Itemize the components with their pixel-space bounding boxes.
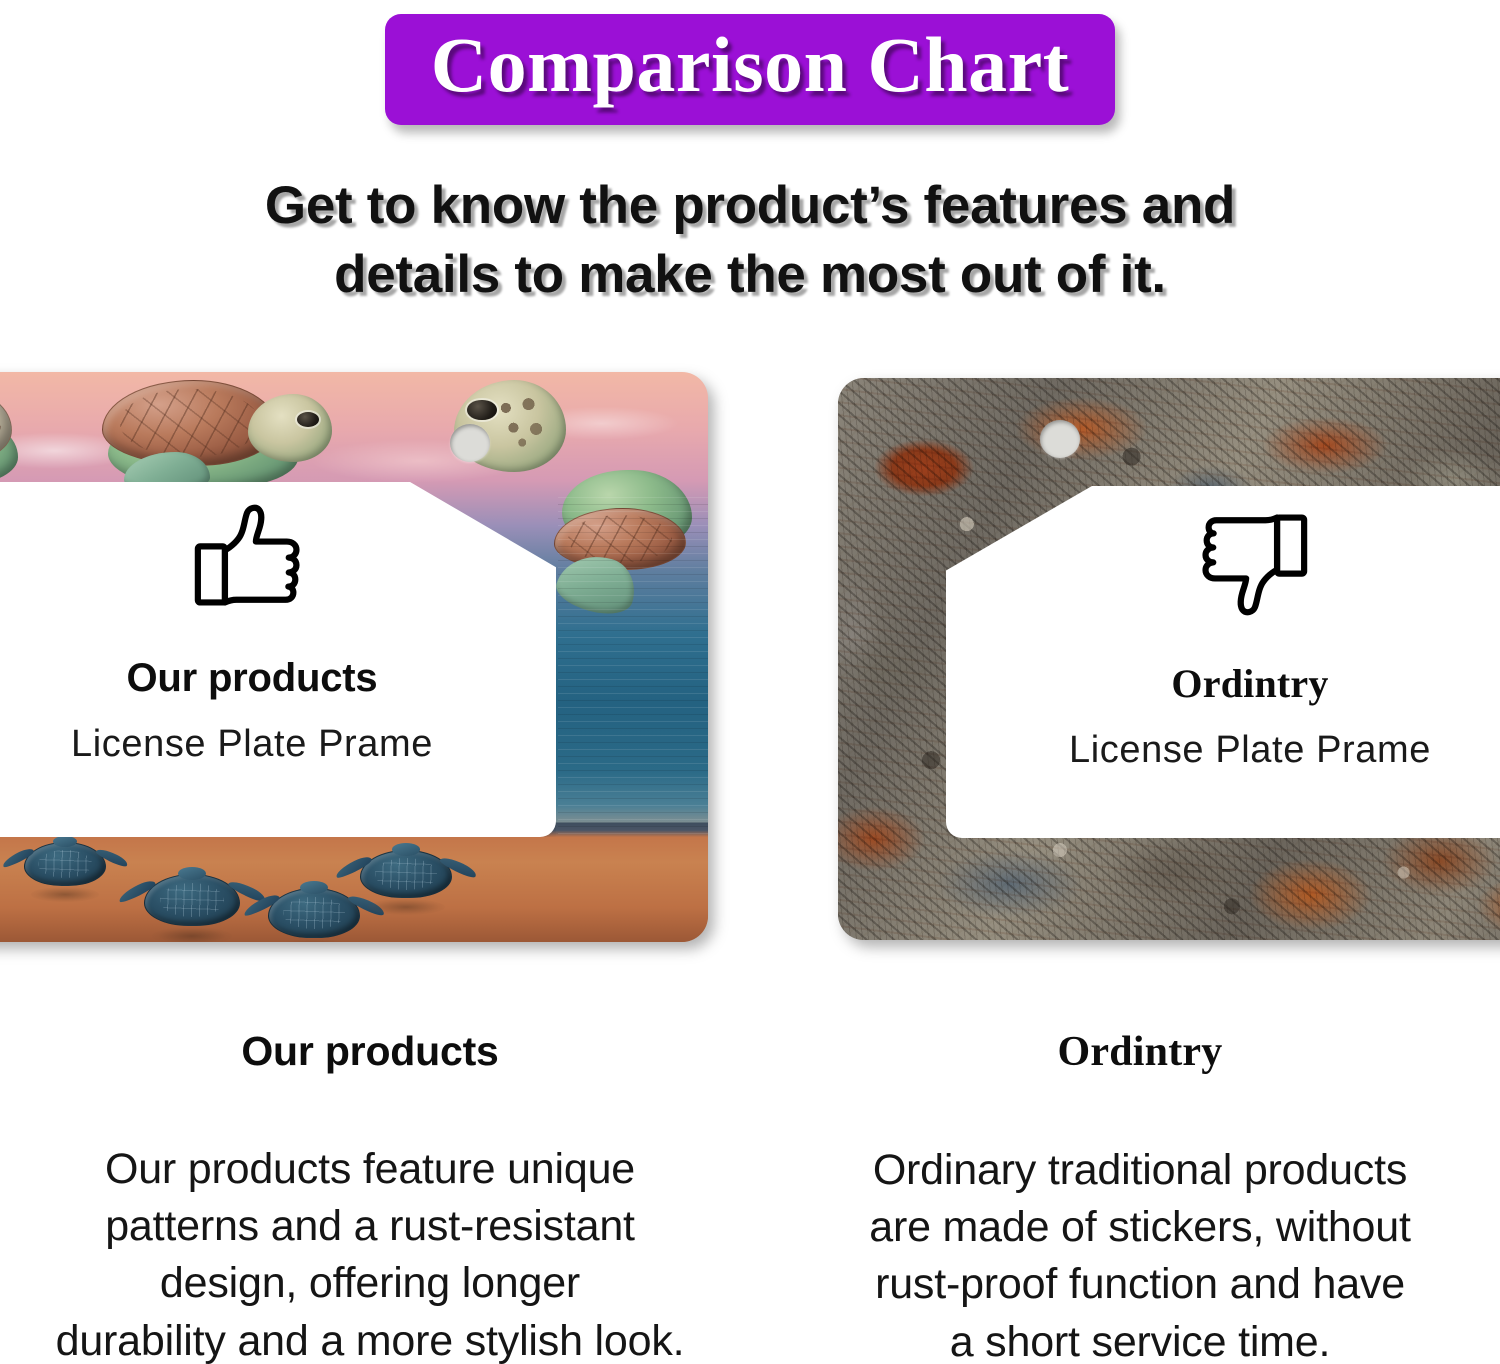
turtle-eye [297,412,319,427]
turtle-eye [467,400,496,420]
description-line: Our products feature unique [20,1141,720,1198]
ordinary-product-card-subtitle: License Plate Prame [946,729,1500,772]
our-product-card-title: Our products [0,656,556,701]
baby-turtle-head [392,843,420,855]
ordinary-product-description-column: Ordintry Ordinary traditional products a… [790,1028,1490,1364]
turtle-flipper [552,546,642,621]
comparison-chart-page: Comparison Chart Get to know the product… [0,0,1500,1364]
description-line: are made of stickers, without [790,1199,1490,1256]
baby-turtle-graphic [360,850,452,898]
turtle-graphic [548,464,708,624]
our-product-description-column: Our products Our products feature unique… [20,1028,720,1364]
description-line: a short service time. [790,1314,1490,1364]
baby-turtle-shell [24,842,106,886]
our-product-frame: Our products License Plate Prame [0,372,708,942]
baby-turtle-shell [268,888,360,938]
ordinary-product-description: Ordinary traditional products are made o… [790,1142,1490,1364]
baby-turtle-graphic [144,874,240,926]
our-product-description: Our products feature unique patterns and… [20,1141,720,1364]
baby-turtle-graphic [24,842,106,886]
turtle-graphic [98,378,328,490]
plate-window: Our products License Plate Prame [0,482,556,837]
thumbs-up-icon [189,500,315,616]
turtle-body [562,470,692,552]
ordinary-product-frame: Ordintry License Plate Prame [838,378,1500,940]
sand-trail [275,939,352,942]
baby-turtle-head [300,881,328,894]
mounting-hole [450,424,490,462]
plate-window: Ordintry License Plate Prame [946,486,1500,838]
description-line: rust-proof function and have [790,1256,1490,1313]
ordinary-product-card: Ordintry License Plate Prame [946,504,1500,772]
description-line: patterns and a rust-resistant [20,1198,720,1255]
turtle-head-spots [492,393,555,456]
baby-turtle-shell [360,850,452,898]
ordinary-product-column-heading: Ordintry [790,1028,1490,1076]
description-line: Ordinary traditional products [790,1142,1490,1199]
our-product-card-subtitle: License Plate Prame [0,723,556,766]
baby-turtle-shell [144,874,240,926]
turtle-shell [554,508,686,570]
sand-trail [367,899,444,915]
baby-turtle-graphic [268,888,360,938]
sand-trail [152,927,233,942]
turtle-graphic [0,390,34,490]
turtle-head [248,394,332,462]
description-line: durability and a more stylish look. [20,1313,720,1364]
our-product-card: Our products License Plate Prame [0,500,556,766]
thumbs-down-icon [1187,504,1313,620]
sand-trail [31,887,100,902]
mounting-hole [1040,420,1080,458]
ordinary-product-card-title: Ordintry [946,660,1500,707]
description-line: design, offering longer [20,1255,720,1312]
our-product-column-heading: Our products [20,1028,720,1075]
